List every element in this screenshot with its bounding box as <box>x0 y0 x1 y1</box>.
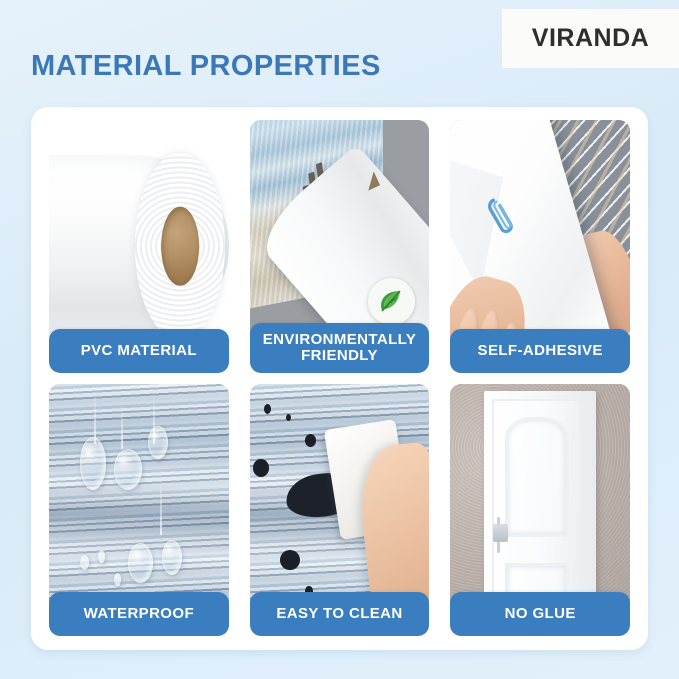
feature-label-environmentally-friendly: ENVIRONMENTALLY FRIENDLY <box>250 323 430 373</box>
features-card: PVC MATERIAL <box>31 107 648 650</box>
droplet-trail <box>121 404 123 449</box>
door-panel <box>492 399 581 618</box>
feature-label-no-glue: NO GLUE <box>450 592 630 636</box>
feature-tile-environmentally-friendly[interactable]: ENVIRONMENTALLY FRIENDLY <box>250 120 430 373</box>
feature-tile-pvc-material[interactable]: PVC MATERIAL <box>49 120 229 373</box>
water-droplet <box>128 543 153 583</box>
feature-tile-easy-to-clean[interactable]: EASY TO CLEAN <box>250 384 430 637</box>
water-droplet <box>80 555 89 570</box>
feature-label-waterproof: WATERPROOF <box>49 592 229 636</box>
page-title: MATERIAL PROPERTIES <box>31 50 381 83</box>
roll-face-shape <box>135 153 225 340</box>
droplet-trail <box>160 474 162 535</box>
leaf-icon <box>368 278 415 325</box>
water-droplet <box>80 437 107 490</box>
door-handle <box>493 524 508 542</box>
feature-label-self-adhesive: SELF-ADHESIVE <box>450 329 630 373</box>
feature-label-pvc-material: PVC MATERIAL <box>49 329 229 373</box>
stain-spot <box>264 404 271 414</box>
roll-core-shape <box>161 207 199 285</box>
water-droplet <box>98 550 105 563</box>
door-upper-panel <box>505 417 569 538</box>
water-droplet <box>114 573 121 586</box>
feature-tile-waterproof[interactable]: WATERPROOF <box>49 384 229 637</box>
sheet-corner-tip <box>362 172 380 191</box>
feature-tile-self-adhesive[interactable]: SELF-ADHESIVE <box>450 120 630 373</box>
feature-label-easy-to-clean: EASY TO CLEAN <box>250 592 430 636</box>
brand-name: VIRANDA <box>532 24 649 53</box>
door-frame <box>484 391 595 618</box>
features-grid: PVC MATERIAL <box>49 120 630 636</box>
water-droplet <box>114 449 143 489</box>
droplet-trail <box>94 389 96 445</box>
water-droplet <box>162 540 182 575</box>
stain-spot <box>305 434 316 447</box>
brand-logo-box: VIRANDA <box>502 9 679 68</box>
feature-tile-no-glue[interactable]: NO GLUE <box>450 384 630 637</box>
infographic-page: VIRANDA MATERIAL PROPERTIES PVC MATERIAL <box>0 0 679 679</box>
water-droplet <box>148 426 168 459</box>
